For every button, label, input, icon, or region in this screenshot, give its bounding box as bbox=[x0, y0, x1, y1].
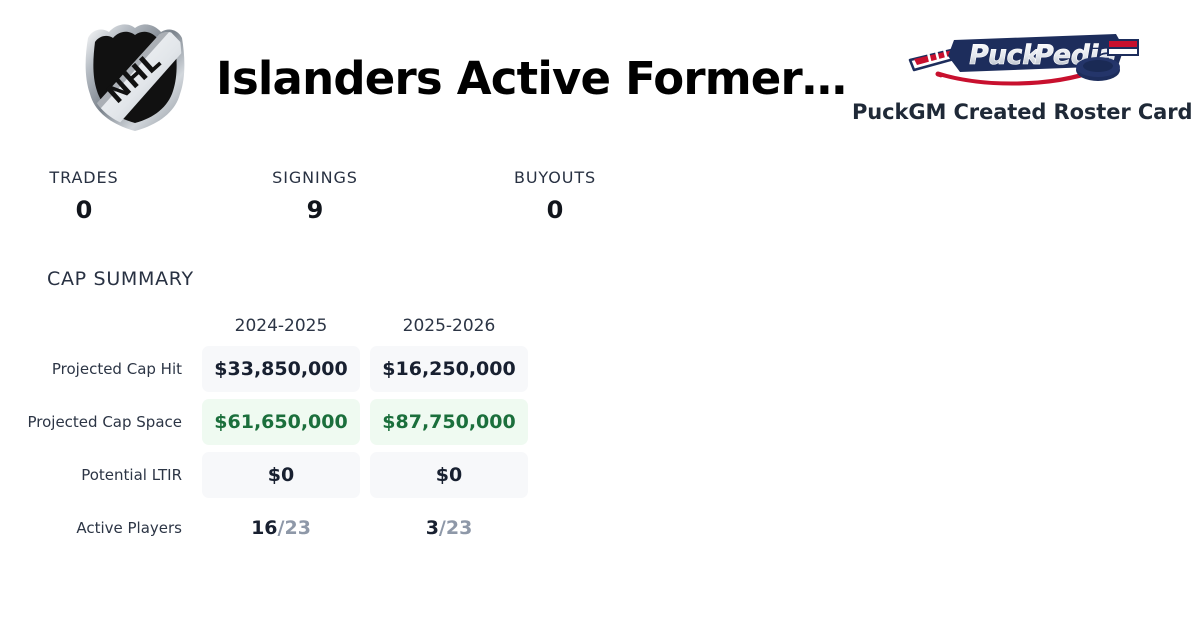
row-label-projected-cap-space: Projected Cap Space bbox=[0, 412, 192, 432]
active-players-max-2025-2026: /23 bbox=[439, 517, 472, 539]
puckpedia-logo-icon[interactable]: Puck Pedia bbox=[902, 26, 1152, 92]
brand-tagline: PuckGM Created Roster Card bbox=[852, 100, 1152, 124]
stat-buyouts-label: BUYOUTS bbox=[475, 168, 635, 188]
column-header-2024-2025: 2024-2025 bbox=[202, 316, 360, 336]
row-label-active-players: Active Players bbox=[0, 518, 192, 538]
cell-projected-cap-space-2024-2025: $61,650,000 bbox=[202, 399, 360, 445]
table-row: Potential LTIR $0 $0 bbox=[0, 449, 560, 501]
active-players-count-2024-2025: 16 bbox=[251, 517, 277, 539]
stat-trades-value: 0 bbox=[4, 196, 164, 224]
cap-summary-table: 2024-2025 2025-2026 Projected Cap Hit $3… bbox=[0, 310, 560, 554]
row-label-potential-ltir: Potential LTIR bbox=[0, 465, 192, 485]
stat-signings: SIGNINGS 9 bbox=[235, 168, 395, 224]
active-players-count-2025-2026: 3 bbox=[426, 517, 439, 539]
cell-potential-ltir-2025-2026: $0 bbox=[370, 452, 528, 498]
stat-signings-label: SIGNINGS bbox=[235, 168, 395, 188]
active-players-max-2024-2025: /23 bbox=[278, 517, 311, 539]
stat-buyouts: BUYOUTS 0 bbox=[475, 168, 635, 224]
stat-signings-value: 9 bbox=[235, 196, 395, 224]
nhl-shield-icon: NHL bbox=[70, 22, 200, 132]
table-header-row: 2024-2025 2025-2026 bbox=[0, 310, 560, 342]
row-label-projected-cap-hit: Projected Cap Hit bbox=[0, 359, 192, 379]
table-row: Projected Cap Space $61,650,000 $87,750,… bbox=[0, 396, 560, 448]
column-header-2025-2026: 2025-2026 bbox=[370, 316, 528, 336]
stat-buyouts-value: 0 bbox=[475, 196, 635, 224]
cell-active-players-2025-2026: 3/23 bbox=[370, 505, 528, 551]
cell-active-players-2024-2025: 16/23 bbox=[202, 505, 360, 551]
cell-projected-cap-hit-2024-2025: $33,850,000 bbox=[202, 346, 360, 392]
cell-potential-ltir-2024-2025: $0 bbox=[202, 452, 360, 498]
stat-trades-label: TRADES bbox=[4, 168, 164, 188]
brand-block: Puck Pedia PuckGM Created Roster Card bbox=[852, 26, 1152, 124]
card-header: NHL Islanders Active Former… bbox=[0, 0, 1200, 145]
cap-summary-heading: CAP SUMMARY bbox=[47, 268, 194, 290]
cell-projected-cap-hit-2025-2026: $16,250,000 bbox=[370, 346, 528, 392]
cell-projected-cap-space-2025-2026: $87,750,000 bbox=[370, 399, 528, 445]
table-row: Projected Cap Hit $33,850,000 $16,250,00… bbox=[0, 343, 560, 395]
page-title: Islanders Active Former… bbox=[216, 47, 856, 111]
transaction-stats: TRADES 0 SIGNINGS 9 BUYOUTS 0 bbox=[0, 168, 1200, 238]
table-row: Active Players 16/23 3/23 bbox=[0, 502, 560, 554]
stat-trades: TRADES 0 bbox=[4, 168, 164, 224]
